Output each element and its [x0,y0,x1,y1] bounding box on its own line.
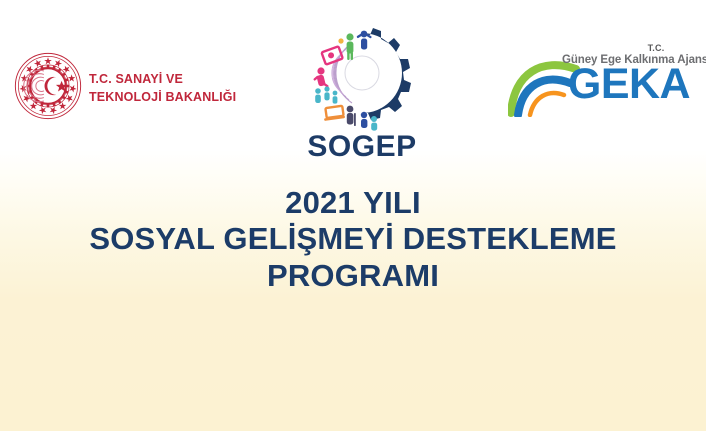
turkish-ministry-emblem-icon [14,52,82,125]
ministry-logo: T.C. SANAYİ VE TEKNOLOJİ BAKANLIĞI [14,52,236,125]
ministry-line-1: T.C. SANAYİ VE [89,71,236,89]
geka-logo: T.C. Güney Ege Kalkınma Ajansı GEKA [508,43,700,121]
title-line-program-name: SOSYAL GELİŞMEYİ DESTEKLEME [0,221,706,257]
logo-strip: T.C. SANAYİ VE TEKNOLOJİ BAKANLIĞI [0,0,706,175]
sogep-wordmark: SOGEP [296,132,428,162]
sogep-logo: SOGEP [296,27,428,162]
poster-canvas: T.C. SANAYİ VE TEKNOLOJİ BAKANLIĞI [0,0,706,431]
geka-wordmark: GEKA [556,63,702,106]
ministry-wordmark: T.C. SANAYİ VE TEKNOLOJİ BAKANLIĞI [89,71,236,107]
sogep-gear-people-icon [296,27,428,131]
ministry-line-2: TEKNOLOJİ BAKANLIĞI [89,89,236,107]
title-line-year: 2021 YILI [0,185,706,221]
page-title: 2021 YILI SOSYAL GELİŞMEYİ DESTEKLEME PR… [0,185,706,294]
geka-tc-label: T.C. [612,43,700,53]
title-line-program-word: PROGRAMI [0,258,706,294]
